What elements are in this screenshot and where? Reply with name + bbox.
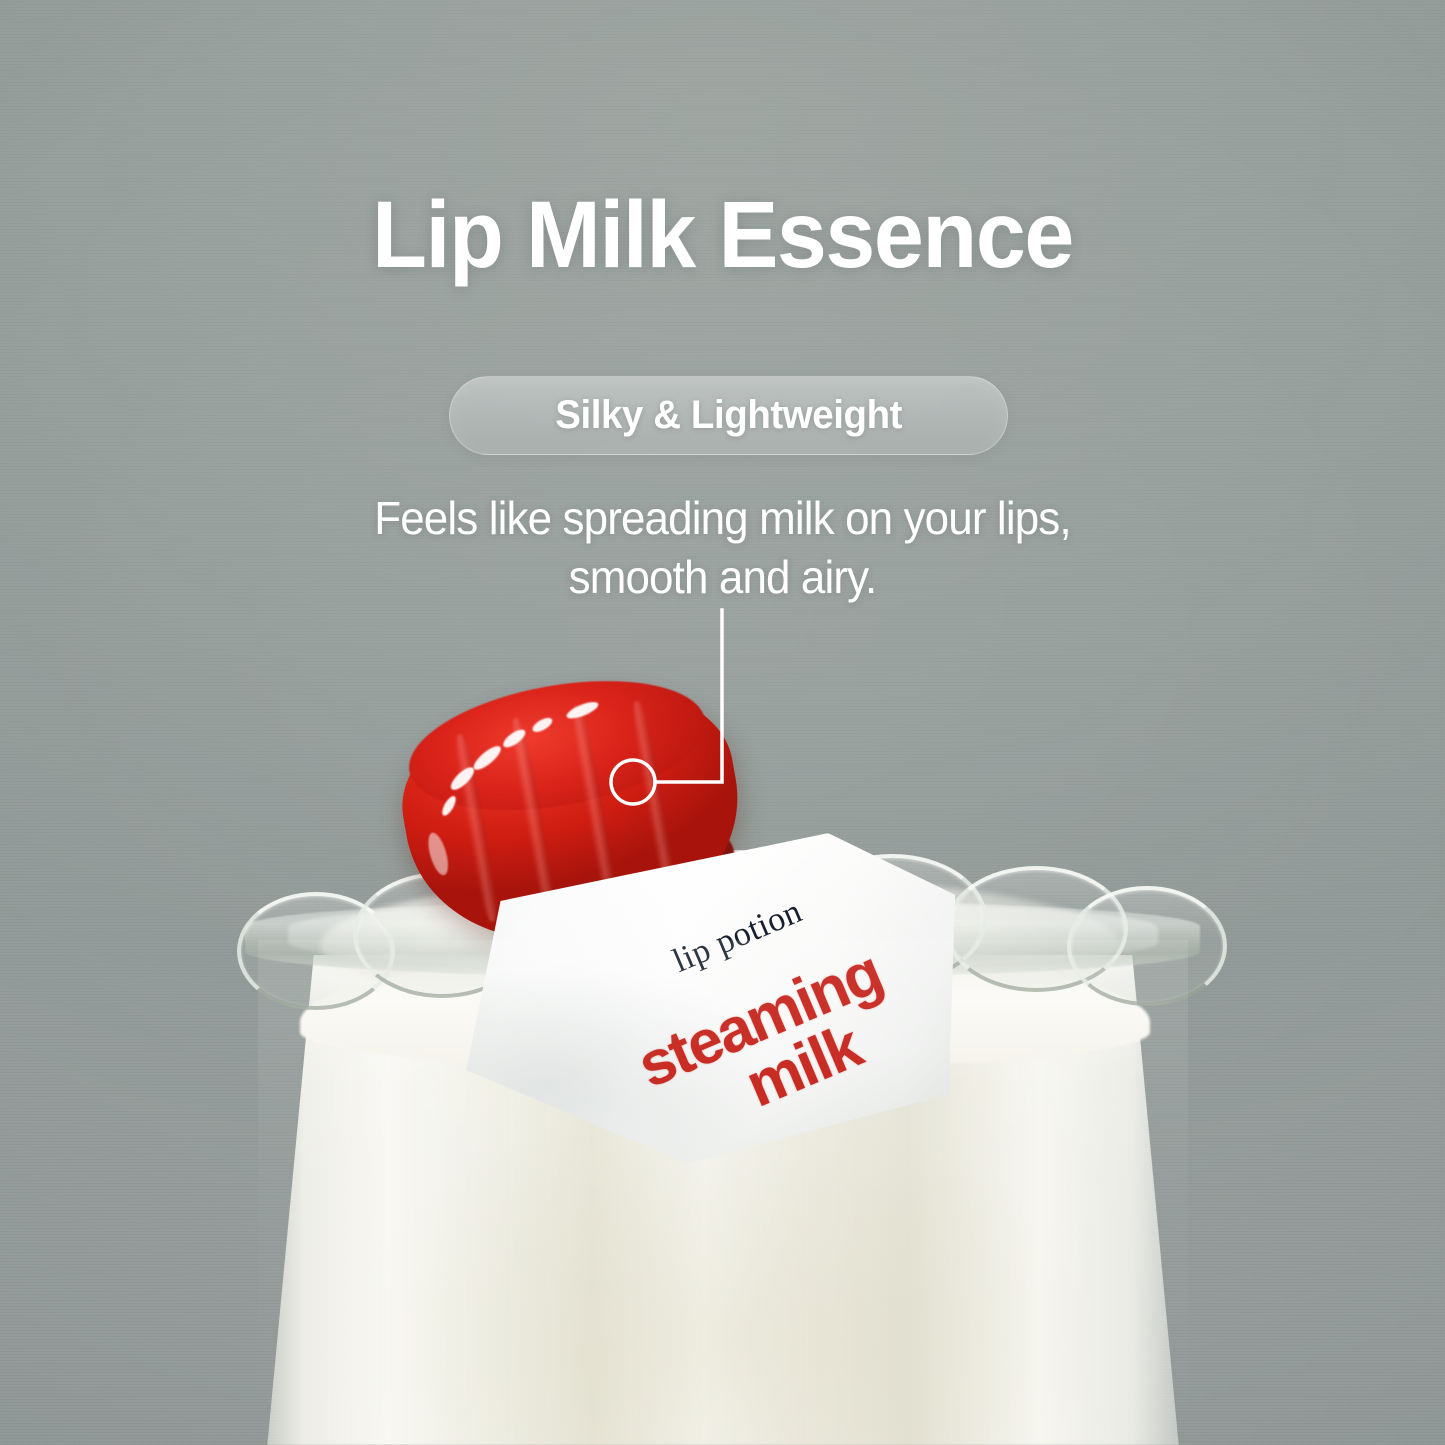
rim-lobe [1067,886,1227,1006]
page-title: Lip Milk Essence [40,188,1406,283]
status-badge: Silky & Lightweight [449,376,1008,455]
status-badge-label: Silky & Lightweight [555,393,902,438]
subtitle-line-2: smooth and airy. [33,548,1413,607]
subtitle-line-1: Feels like spreading milk on your lips, [33,489,1413,548]
product-marketing-image: lip potion steaming milk Lip Milk Essenc… [0,0,1445,1445]
subtitle: Feels like spreading milk on your lips, … [33,489,1413,608]
product-label: lip potion steaming milk [441,825,972,1180]
